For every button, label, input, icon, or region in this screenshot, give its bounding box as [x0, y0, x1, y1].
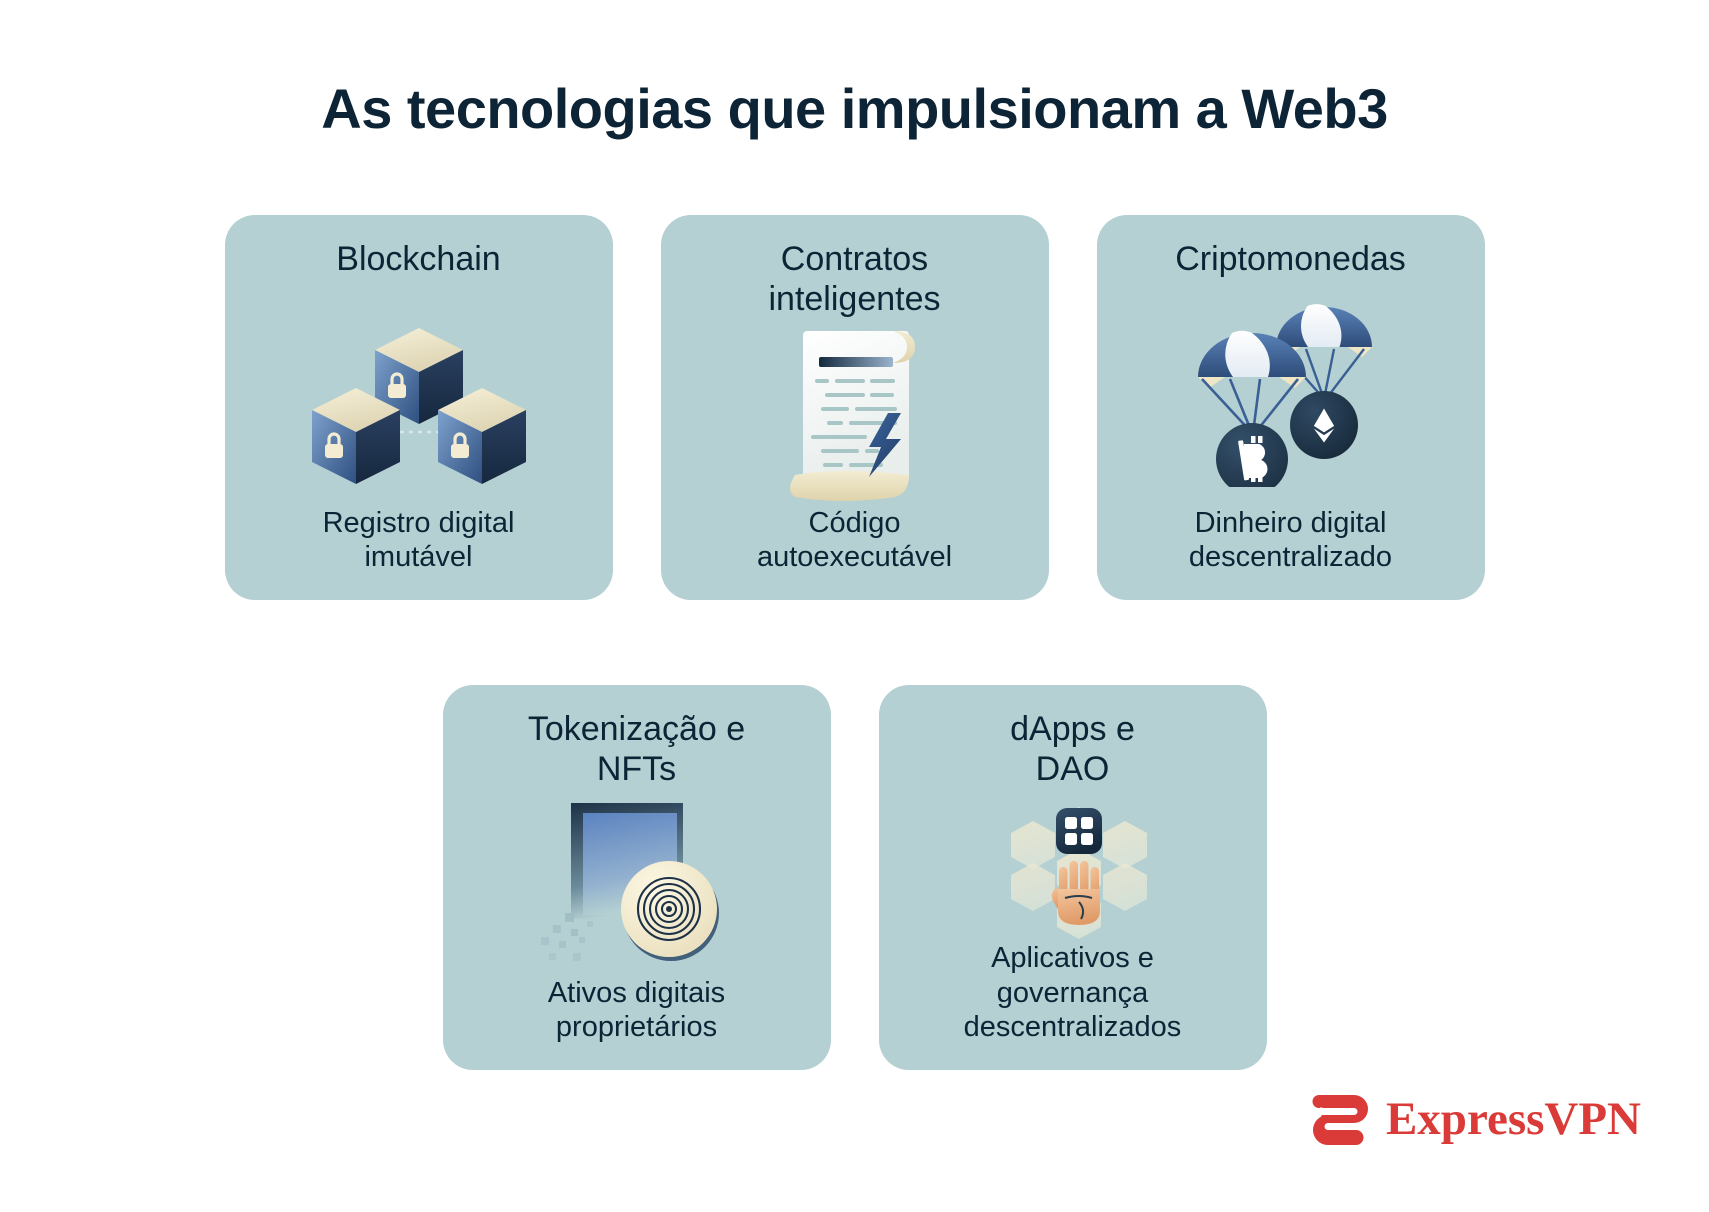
card-dapps-dao[interactable]: dApps e DAO [879, 685, 1267, 1070]
expressvpn-wordmark: ExpressVPN [1386, 1096, 1641, 1143]
card-illustration [461, 789, 813, 975]
parachuting-coins-icon [1166, 297, 1416, 487]
card-illustration [243, 279, 595, 505]
card-title: dApps e DAO [1010, 709, 1135, 789]
nft-artwork-fingerprint-icon [527, 797, 747, 967]
card-caption: Aplicativos e governança descentralizado… [964, 941, 1182, 1048]
card-tokenization-nfts[interactable]: Tokenização e NFTs [443, 685, 831, 1070]
locked-cubes-icon [294, 292, 544, 492]
card-title: Contratos inteligentes [768, 239, 940, 319]
card-caption: Dinheiro digital descentralizado [1189, 506, 1392, 578]
page-title: As tecnologias que impulsionam a Web3 [0, 78, 1709, 140]
hexagon-apps-hand-icon [953, 783, 1193, 948]
expressvpn-e-mark-icon [1306, 1089, 1372, 1150]
card-title: Tokenização e NFTs [528, 709, 745, 789]
contract-scroll-lightning-icon [765, 317, 945, 507]
card-row-top: Blockchain [0, 215, 1709, 600]
card-illustration [679, 319, 1031, 505]
card-cryptocurrencies[interactable]: Criptomonedas [1097, 215, 1485, 600]
card-smart-contracts[interactable]: Contratos inteligentes [661, 215, 1049, 600]
expressvpn-logo[interactable]: ExpressVPN [1306, 1089, 1641, 1150]
card-illustration [1115, 279, 1467, 505]
card-title: Blockchain [336, 239, 500, 279]
card-blockchain[interactable]: Blockchain [225, 215, 613, 600]
card-row-bottom: Tokenização e NFTs [0, 685, 1709, 1070]
card-caption: Código autoexecutável [757, 506, 952, 578]
card-illustration [897, 789, 1249, 941]
card-caption: Ativos digitais proprietários [548, 976, 725, 1048]
card-caption: Registro digital imutável [323, 506, 515, 578]
card-title: Criptomonedas [1175, 239, 1406, 279]
